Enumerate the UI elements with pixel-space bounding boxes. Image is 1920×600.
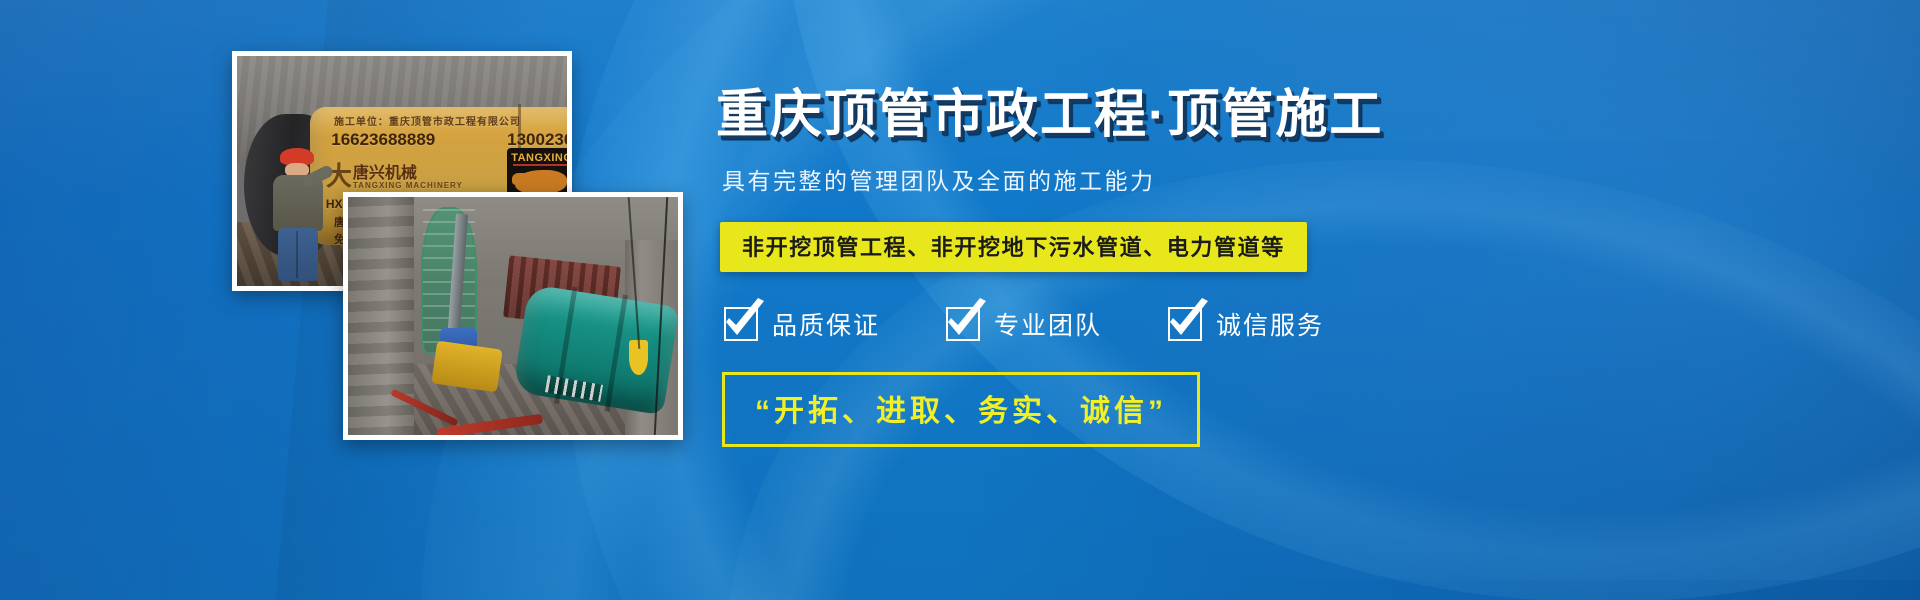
photo1-badge-brand: TANGXING (511, 152, 567, 164)
feature-label: 诚信服务 (1216, 306, 1324, 342)
feature-label: 专业团队 (994, 306, 1102, 342)
services-highlight-bar: 非开挖顶管工程、非开挖地下污水管道、电力管道等 (720, 222, 1307, 272)
photo1-company-line: 施工单位：重庆顶管市政工程有限公司 (334, 113, 521, 128)
slogan-box: “开拓、进取、务实、诚信” (722, 372, 1200, 447)
feature-item: 专业团队 (946, 306, 1102, 342)
photo1-badge-divider (513, 164, 567, 166)
photo2-yellow-pump (431, 340, 502, 392)
photo1-brand-pinyin: TANGXING MACHINERY (353, 181, 463, 190)
page-subtitle: 具有完整的管理团队及全面的施工能力 (722, 162, 1846, 196)
page-title: 重庆顶管市政工程·顶管施工 (716, 86, 1846, 144)
feature-item: 诚信服务 (1168, 306, 1324, 342)
photo1-worker (273, 148, 323, 281)
check-icon (1168, 307, 1202, 341)
feature-item: 品质保证 (724, 306, 880, 342)
photo1-phone-1: 16623688889 (331, 130, 435, 150)
banner-content: 重庆顶管市政工程·顶管施工 具有完整的管理团队及全面的施工能力 非开挖顶管工程、… (716, 86, 1846, 447)
shaft-construction-photo (343, 192, 683, 440)
photo1-boar-logo-icon (515, 170, 566, 194)
photo1-worker-jeans (278, 228, 318, 281)
check-icon (946, 307, 980, 341)
photo1-brand-cn: 唐兴机械 (353, 159, 417, 183)
feature-label: 品质保证 (772, 306, 880, 342)
check-icon (724, 307, 758, 341)
promo-banner: 施工单位：重庆顶管市政工程有限公司 16623688889 大 唐兴机械 TAN… (0, 0, 1920, 600)
feature-list: 品质保证 专业团队 诚信服务 (724, 306, 1846, 342)
